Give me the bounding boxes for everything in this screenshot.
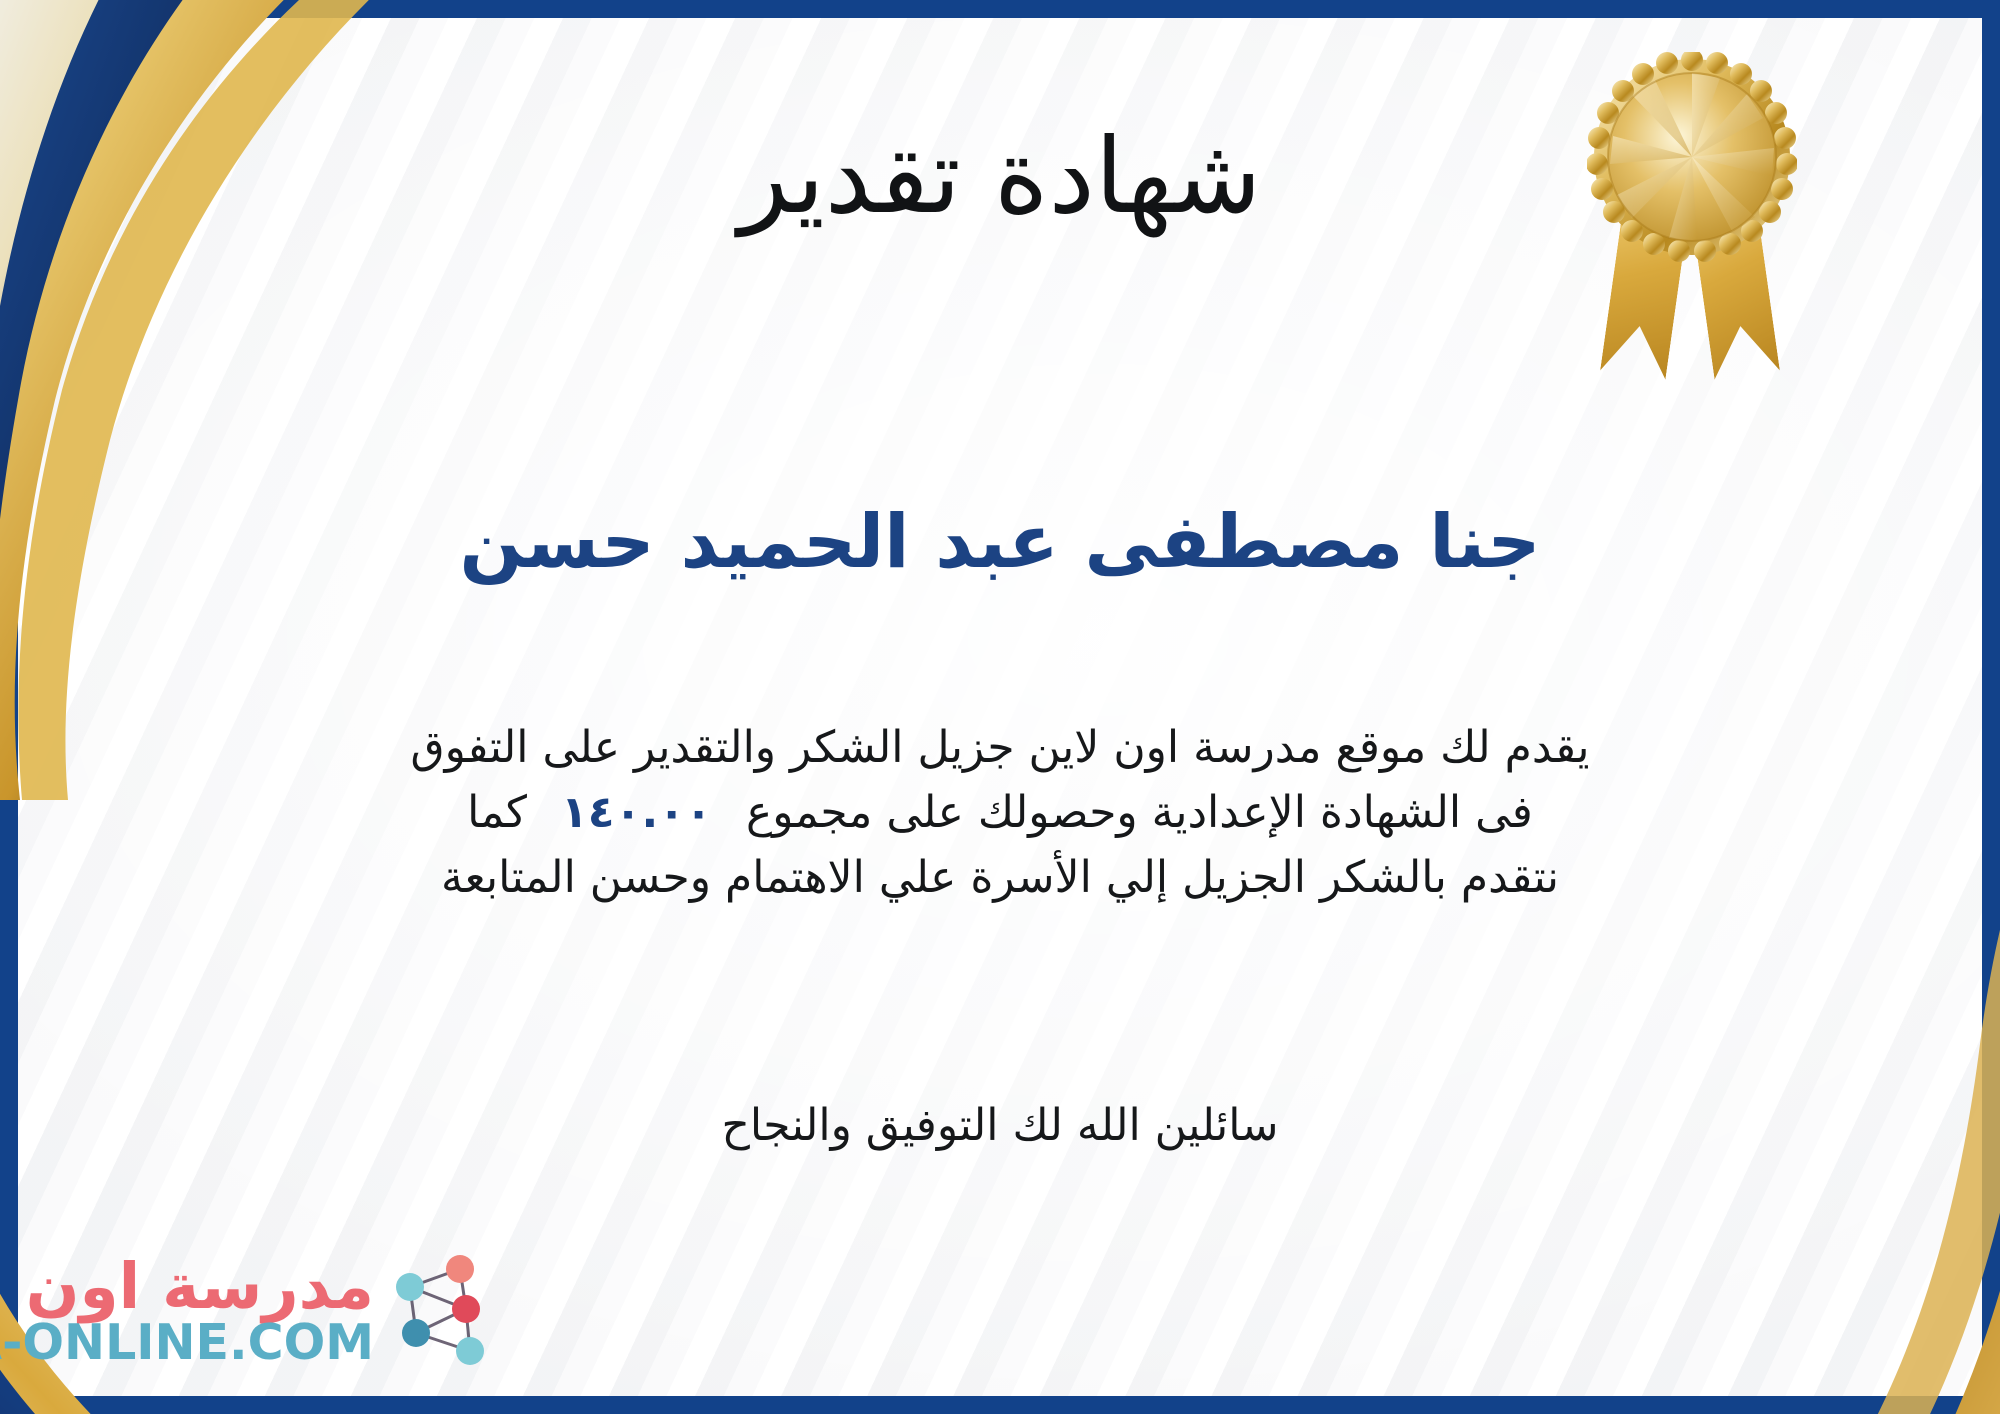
closing-line: سائلين الله لك التوفيق والنجاح xyxy=(0,1100,2000,1151)
logo-brand-arabic: مدرسة اون لاين xyxy=(0,1255,374,1318)
certificate-title: شهادة تقدير xyxy=(0,122,2000,231)
network-nodes-icon xyxy=(386,1247,504,1375)
body-line-2-prefix: فى الشهادة الإعدادية وحصولك على مجموع xyxy=(746,787,1533,838)
body-line-2-suffix: كما xyxy=(467,787,527,838)
certificate-canvas: شهادة تقدير جنا مصطفى عبد الحميد حسن يقد… xyxy=(0,0,2000,1414)
recipient-name: جنا مصطفى عبد الحميد حسن xyxy=(0,500,2000,585)
body-line-1: يقدم لك موقع مدرسة اون لاين جزيل الشكر و… xyxy=(60,715,1940,780)
body-line-3: نتقدم بالشكر الجزيل إلي الأسرة علي الاهت… xyxy=(60,845,1940,910)
body-line-2: فى الشهادة الإعدادية وحصولك على مجموع١٤٠… xyxy=(60,780,1940,845)
logo-website-url: MADRSA-ONLINE.COM xyxy=(0,1318,374,1367)
logo-text-block: مدرسة اون لاين MADRSA-ONLINE.COM xyxy=(0,1255,374,1367)
site-logo[interactable]: مدرسة اون لاين MADRSA-ONLINE.COM xyxy=(34,1236,504,1386)
grade-total: ١٤٠.٠٠ xyxy=(561,780,712,845)
certificate-body: يقدم لك موقع مدرسة اون لاين جزيل الشكر و… xyxy=(60,715,1940,910)
